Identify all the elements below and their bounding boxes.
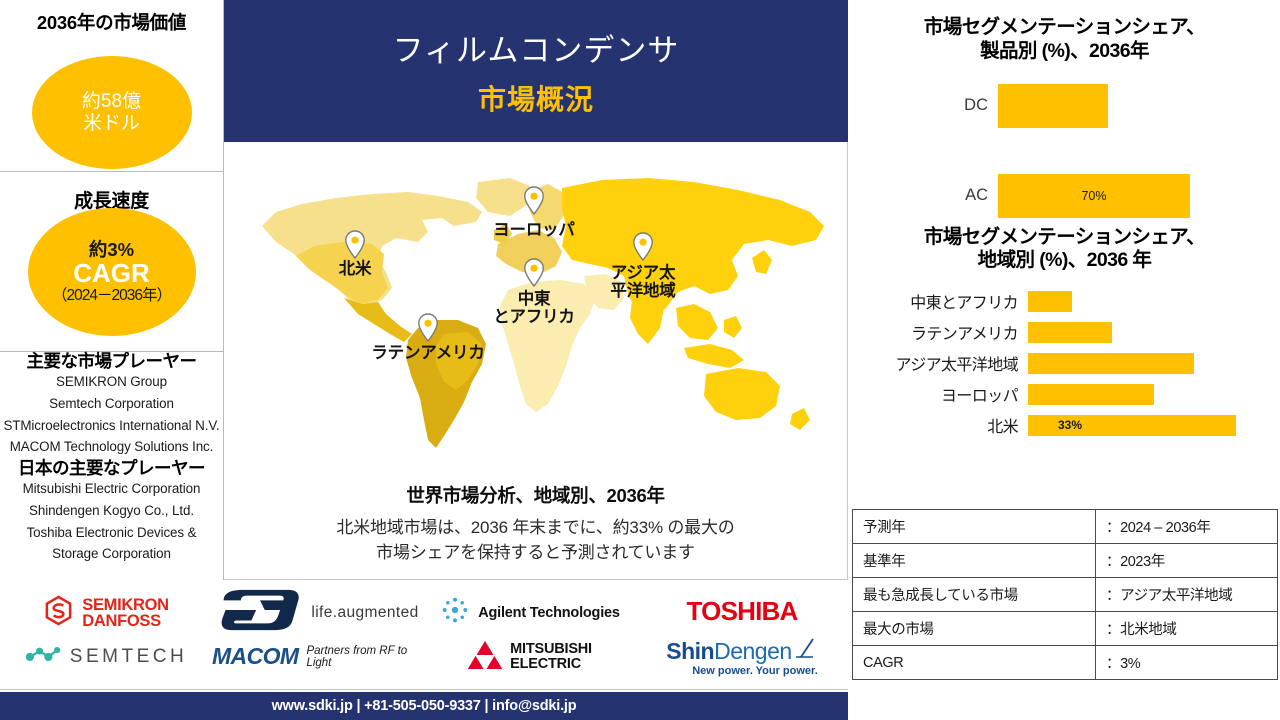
- cagr-label: CAGR: [73, 260, 150, 287]
- pin-latin-america-icon: [417, 313, 439, 342]
- growth-rate-ellipse: 約3% CAGR （2024－2036年）: [28, 208, 196, 336]
- growth-rate-block: 成長速度 約3% CAGR （2024－2036年）: [0, 172, 223, 352]
- jp-player-item: Mitsubishi Electric Corporation: [0, 478, 223, 500]
- region-new-zealand: [790, 408, 810, 430]
- table-row: 最も急成長している市場 ：アジア太平洋地域: [853, 578, 1278, 612]
- market-value-text: 約58億 米ドル: [82, 91, 141, 135]
- map-caption-title: 世界市場分析、地域別、2036年: [224, 482, 847, 508]
- jp-player-item: Shindengen Kogyo Co., Ltd.: [0, 500, 223, 522]
- region-mexico: [344, 298, 412, 342]
- region-bar-label: 中東とアフリカ: [849, 289, 1028, 313]
- key-players-heading: 主要な市場プレーヤー: [0, 352, 223, 371]
- product-chart-title: 市場セグメンテーションシェア、 製品別 (%)、2036年: [857, 16, 1272, 64]
- region-bar-apac: [1028, 353, 1194, 374]
- region-bar-label: ラテンアメリカ: [849, 320, 1028, 344]
- st-mark-icon: [217, 588, 303, 637]
- pin-north-america-icon: [344, 230, 366, 259]
- region-label-asia-pacific: アジア太 平洋地域: [591, 264, 695, 301]
- logo-column-2: life.augmented MACOM Partners from RF to…: [212, 580, 424, 689]
- region-chart-title: 市場セグメンテーションシェア、 地域別 (%)、2036 年: [857, 226, 1272, 274]
- semikron-mark-icon: [43, 595, 74, 631]
- region-bar-label: アジア太平洋地域: [849, 351, 1028, 375]
- logo-mitsubishi-electric: MITSUBISHI ELECTRIC: [468, 638, 592, 676]
- macom-tagline: Partners from RF to Light: [306, 645, 424, 669]
- region-bar-europe: [1028, 384, 1154, 405]
- shindengen-tagline: New power. Your power.: [692, 665, 818, 677]
- logo-column-3: Agilent Technologies MITSUBISHI ELECTRIC: [424, 580, 636, 689]
- jp-players-heading: 日本の主要なプレーヤー: [0, 459, 223, 478]
- logo-shindengen: Shin Dengen New power. Your power.: [666, 637, 818, 677]
- table-value: ：アジア太平洋地域: [1096, 578, 1278, 612]
- table-row: CAGR ：3%: [853, 646, 1278, 680]
- mitsubishi-wordmark: MITSUBISHI ELECTRIC: [510, 642, 592, 671]
- mitsubishi-line2: ELECTRIC: [510, 656, 581, 672]
- st-tagline: life.augmented: [311, 604, 418, 622]
- product-bar-row: DC: [849, 84, 1280, 128]
- logo-toshiba: TOSHIBA: [687, 593, 798, 631]
- market-value-ellipse: 約58億 米ドル: [32, 56, 192, 169]
- region-bar-value-label: 33%: [1058, 418, 1082, 432]
- product-segmentation-chart: DC AC 70%: [849, 78, 1280, 218]
- region-australia: [704, 368, 780, 420]
- semikron-line2: DANFOSS: [82, 612, 161, 630]
- region-southeast-asia: [676, 304, 718, 340]
- footer-contact-text: www.sdki.jp | +81-505-050-9337 | info@sd…: [272, 698, 577, 714]
- world-map-panel: 北米 ヨーロッパ アジア太 平洋地域 中東 とアフリカ ラテンアメリカ 世界市場…: [224, 142, 848, 580]
- macom-wordmark: MACOM: [212, 643, 298, 670]
- agilent-wordmark: Agilent Technologies: [478, 605, 620, 621]
- logo-semtech: SEMTECH: [25, 638, 187, 676]
- region-bar-mea: [1028, 291, 1072, 312]
- semtech-wordmark: SEMTECH: [70, 646, 187, 668]
- region-segmentation-chart: 中東とアフリカ ラテンアメリカ アジア太平洋地域 ヨーロッパ 北米 33%: [849, 285, 1280, 445]
- shindengen-bold: Shin: [666, 638, 714, 665]
- table-value: ：北米地域: [1096, 612, 1278, 646]
- region-bar-label: ヨーロッパ: [849, 382, 1028, 406]
- infographic-page: 2036年の市場価値 約58億 米ドル 成長速度 約3% CAGR （2024－…: [0, 0, 1280, 720]
- header-title-main: フィルムコンデンサ: [393, 25, 680, 70]
- pin-europe-icon: [523, 186, 545, 215]
- region-label-north-america: 北米: [322, 260, 388, 278]
- agilent-mark-icon: [440, 595, 470, 630]
- player-item: Semtech Corporation: [0, 393, 223, 415]
- table-value: ：2024 – 2036年: [1096, 510, 1278, 544]
- logo-macom: MACOM Partners from RF to Light: [212, 638, 424, 676]
- region-philippines: [724, 316, 742, 338]
- header-title-sub: 市場概況: [478, 78, 594, 118]
- product-bar-label: DC: [849, 96, 998, 115]
- toshiba-wordmark: TOSHIBA: [687, 596, 798, 627]
- table-value: ：3%: [1096, 646, 1278, 680]
- region-bar-row: ラテンアメリカ: [849, 320, 1280, 344]
- region-label-latin-america: ラテンアメリカ: [348, 344, 508, 362]
- semtech-mark-icon: [25, 644, 62, 669]
- market-value-block: 2036年の市場価値 約58億 米ドル: [0, 0, 223, 172]
- jp-player-item: Toshiba Electronic Devices & Storage Cor…: [0, 522, 223, 565]
- region-label-europe: ヨーロッパ: [474, 221, 594, 239]
- cagr-years: （2024－2036年）: [52, 287, 171, 305]
- world-map: 北米 ヨーロッパ アジア太 平洋地域 中東 とアフリカ ラテンアメリカ: [232, 168, 840, 464]
- logo-stmicroelectronics: life.augmented: [217, 594, 418, 632]
- region-bar-row: ヨーロッパ: [849, 382, 1280, 406]
- pin-middle-east-africa-icon: [523, 258, 545, 287]
- product-bar-label: AC: [849, 186, 998, 205]
- region-japan: [752, 250, 772, 274]
- table-key: 基準年: [853, 544, 1096, 578]
- region-india: [630, 296, 664, 344]
- region-bar-label: 北米: [849, 413, 1028, 437]
- region-bar-row: アジア太平洋地域: [849, 351, 1280, 375]
- region-bar-latam: [1028, 322, 1112, 343]
- product-bar-row: AC 70%: [849, 174, 1280, 218]
- player-item: MACOM Technology Solutions Inc.: [0, 436, 223, 458]
- table-key: 最大の市場: [853, 612, 1096, 646]
- logo-column-4: TOSHIBA Shin Dengen New power. Your powe…: [636, 580, 848, 689]
- semikron-wordmark: SEMIKRON DANFOSS: [82, 597, 169, 629]
- header-banner: フィルムコンデンサ 市場概況: [224, 0, 848, 142]
- region-greenland: [476, 178, 530, 216]
- table-key: 最も急成長している市場: [853, 578, 1096, 612]
- product-bar-dc: [998, 84, 1108, 128]
- right-panel: 市場セグメンテーションシェア、 製品別 (%)、2036年 DC AC 70% …: [849, 0, 1280, 720]
- region-indonesia: [684, 344, 744, 368]
- logo-agilent: Agilent Technologies: [440, 594, 620, 632]
- player-item: STMicroelectronics International N.V.: [0, 415, 223, 437]
- shindengen-slash-icon: [796, 637, 816, 664]
- mitsubishi-mark-icon: [468, 639, 502, 674]
- player-item: SEMIKRON Group: [0, 371, 223, 393]
- pin-asia-pacific-icon: [632, 232, 654, 261]
- region-bar-row: 中東とアフリカ: [849, 289, 1280, 313]
- shindengen-normal: Dengen: [714, 638, 792, 665]
- table-key: CAGR: [853, 646, 1096, 680]
- market-value-title: 2036年の市場価値: [0, 9, 223, 35]
- growth-pct: 約3%: [89, 239, 134, 260]
- logo-column-1: SEMIKRON DANFOSS SEMTECH: [0, 580, 212, 689]
- region-bar-row: 北米 33%: [849, 413, 1280, 437]
- table-key: 予測年: [853, 510, 1096, 544]
- footer-contact-bar: www.sdki.jp | +81-505-050-9337 | info@sd…: [0, 692, 848, 720]
- product-bar-ac: 70%: [998, 174, 1190, 218]
- map-caption-body: 北米地域市場は、2036 年末までに、約33% の最大の 市場シェアを保持すると…: [274, 516, 797, 565]
- region-bar-north-america: 33%: [1028, 415, 1236, 436]
- table-row: 基準年 ：2023年: [853, 544, 1278, 578]
- table-value: ：2023年: [1096, 544, 1278, 578]
- table-row: 最大の市場 ：北米地域: [853, 612, 1278, 646]
- logo-semikron-danfoss: SEMIKRON DANFOSS: [43, 594, 169, 632]
- company-logo-strip: SEMIKRON DANFOSS SEMTECH life.augmented …: [0, 580, 848, 690]
- market-info-table: 予測年 ：2024 – 2036年 基準年 ：2023年 最も急成長している市場…: [852, 509, 1278, 680]
- table-row: 予測年 ：2024 – 2036年: [853, 510, 1278, 544]
- region-label-middle-east-africa: 中東 とアフリカ: [479, 290, 589, 327]
